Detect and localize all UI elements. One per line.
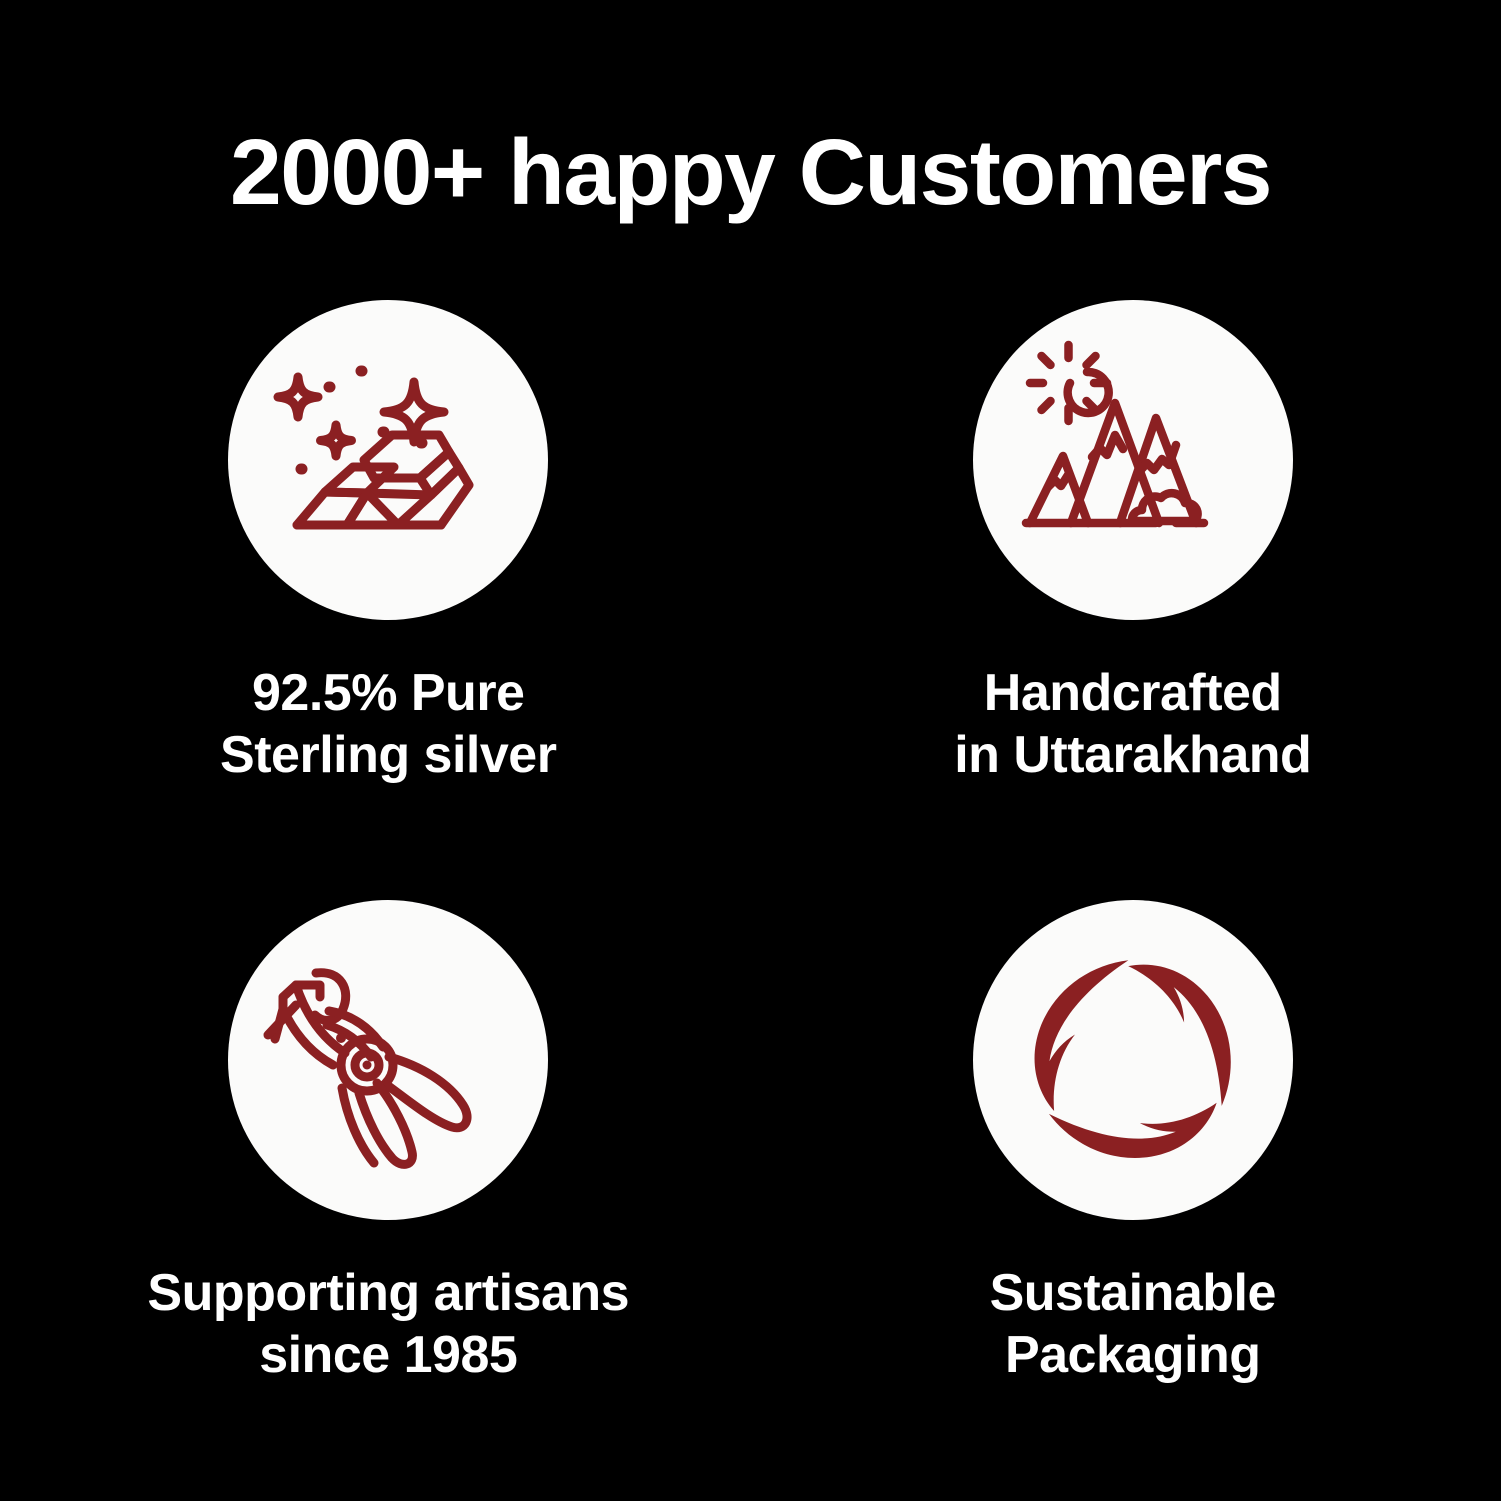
- feature-item-supporting-artisans: Supporting artisans since 1985: [0, 900, 751, 1500]
- feature-grid: 92.5% Pure Sterling silver: [0, 300, 1501, 1500]
- mountains-sun-icon: [1008, 335, 1258, 585]
- page-title: 2000+ happy Customers: [0, 124, 1501, 222]
- feature-label: Supporting artisans since 1985: [147, 1262, 629, 1387]
- feature-label: 92.5% Pure Sterling silver: [220, 662, 556, 787]
- feature-icon-badge: [973, 300, 1293, 620]
- silver-bars-sparkle-icon: [263, 335, 513, 585]
- feature-icon-badge: [228, 300, 548, 620]
- promo-canvas: 2000+ happy Customers: [0, 0, 1501, 1501]
- feature-icon-badge: [973, 900, 1293, 1220]
- feature-icon-badge: [228, 900, 548, 1220]
- feature-label: Sustainable Packaging: [990, 1262, 1276, 1387]
- feature-item-handcrafted: Handcrafted in Uttarakhand: [751, 300, 1501, 900]
- jewelry-pliers-icon: [263, 935, 513, 1185]
- feature-label: Handcrafted in Uttarakhand: [954, 662, 1311, 787]
- feature-item-sterling-silver: 92.5% Pure Sterling silver: [0, 300, 751, 900]
- feature-item-sustainable-packaging: Sustainable Packaging: [751, 900, 1501, 1500]
- three-leaves-recycle-icon: [1017, 944, 1249, 1176]
